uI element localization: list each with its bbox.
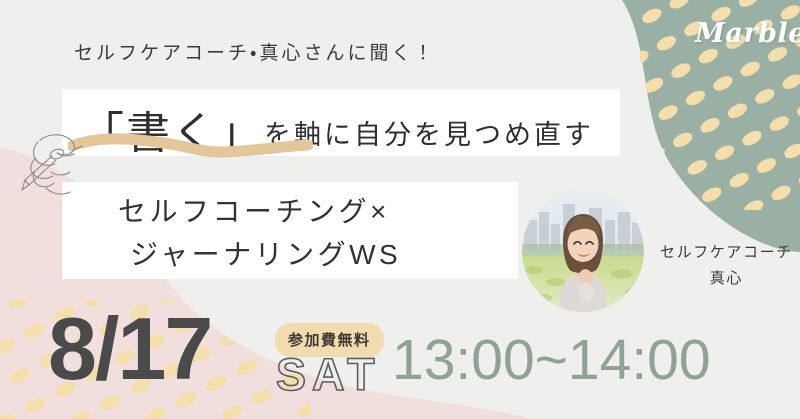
- headline-tail: を軸に自分を見つめ直す: [264, 120, 594, 150]
- brand-logo: Marble: [695, 18, 800, 49]
- coach-caption: セルフケアコーチ 真心: [660, 240, 793, 292]
- kicker-text: セルフケアコーチ・真心さんに聞く！: [74, 38, 435, 65]
- subtitle-line-2: ジャーナリングWS: [118, 233, 401, 276]
- event-weekday: SAT: [276, 352, 381, 397]
- event-time-range: 13:00~14:00: [392, 332, 711, 389]
- coach-name: 真心: [660, 266, 793, 292]
- event-banner: Marble セルフケアコーチ・真心さんに聞く！ 「書く」を軸に自分を見つめ直す…: [0, 0, 800, 419]
- coach-role: セルフケアコーチ: [660, 244, 793, 261]
- subtitle-line-1: セルフコーチング×: [118, 196, 390, 227]
- event-date: 8/17: [48, 305, 211, 393]
- coach-portrait-photo: [522, 190, 644, 312]
- headline-text: 「書く」を軸に自分を見つめ直す: [80, 97, 594, 161]
- headline-emphasis: 書く: [126, 108, 218, 159]
- hand-with-pen-icon: [16, 128, 94, 210]
- subtitle-text: セルフコーチング× ジャーナリングWS: [118, 190, 401, 276]
- headline-quote-close: 」: [218, 108, 264, 159]
